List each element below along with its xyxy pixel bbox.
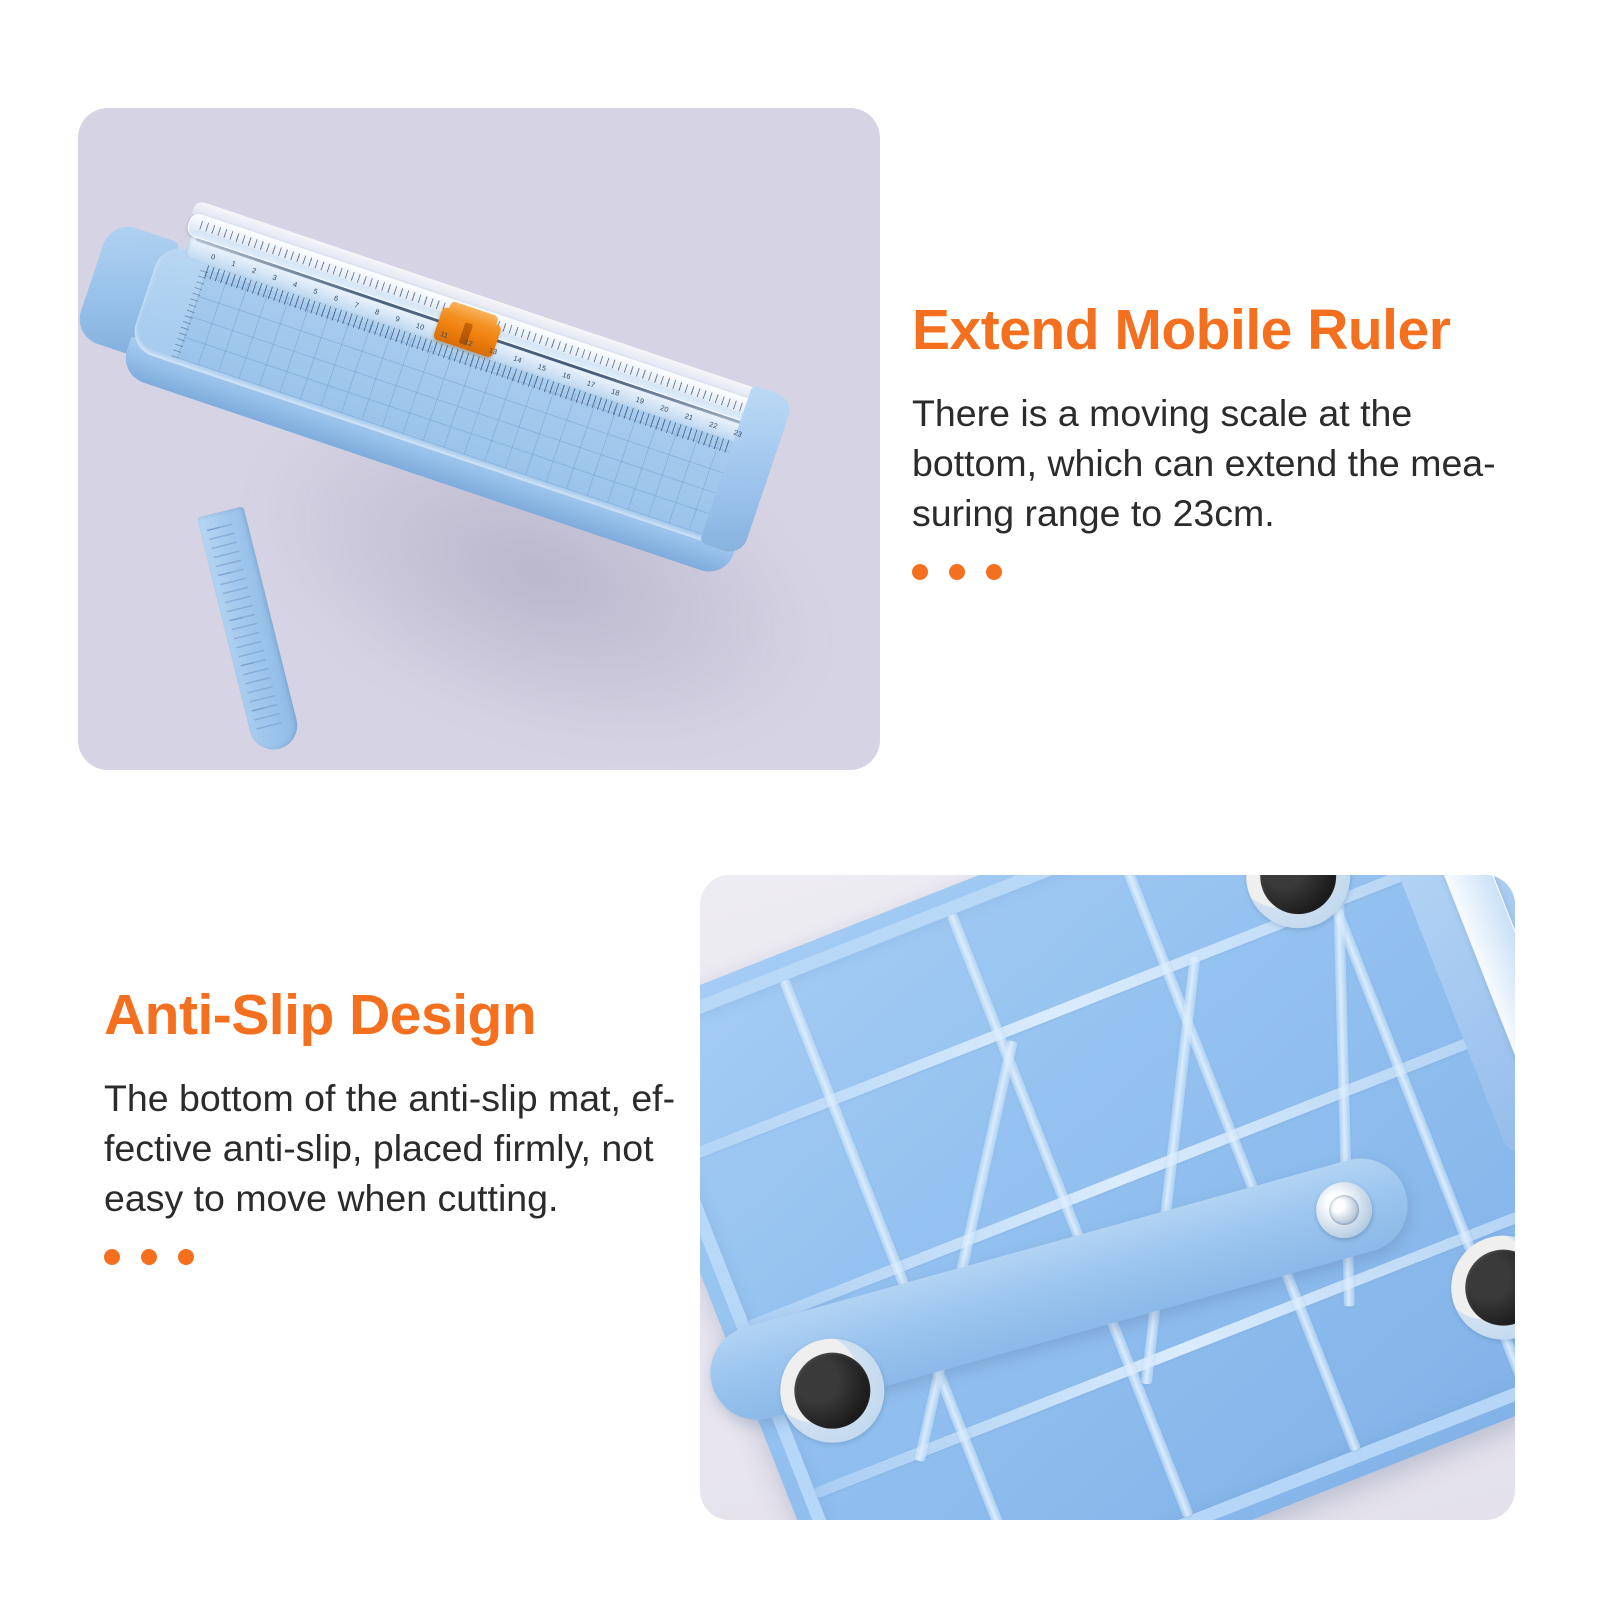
ruler-tick-label: 5 <box>311 286 319 300</box>
ruler-tick-label: 8 <box>373 307 381 321</box>
dot-icon <box>912 564 928 580</box>
ruler-tick-label: 7 <box>352 300 360 314</box>
ruler-tick-label: 19 <box>633 395 645 410</box>
ruler-tick-label: 3 <box>270 273 278 287</box>
ellipsis-ornament <box>104 1249 694 1265</box>
description-line: easy to move when cutting. <box>104 1173 694 1223</box>
description-line: The bottom of the anti-slip mat, ef- <box>104 1073 694 1123</box>
ruler-tick-label: 4 <box>291 279 299 293</box>
ruler-tick-label: 9 <box>393 314 401 328</box>
dot-icon <box>104 1249 120 1265</box>
dot-icon <box>141 1249 157 1265</box>
ellipsis-ornament <box>912 564 1512 580</box>
feature-text-anti-slip-design: Anti-Slip Design The bottom of the anti-… <box>104 985 694 1265</box>
ruler-tick-label: 16 <box>560 370 572 385</box>
ruler-tick-label: 13 <box>486 345 498 360</box>
ruler-tick-label: 22 <box>707 420 719 435</box>
trimmer-underside-slab <box>700 875 1515 1520</box>
ruler-tick-label: 18 <box>609 387 621 402</box>
description-line: bottom, which can extend the mea- <box>912 438 1512 488</box>
ruler-tick-label: 12 <box>462 337 474 352</box>
ruler-tick-label: 21 <box>682 411 694 426</box>
description-line: There is a moving scale at the <box>912 388 1512 438</box>
ruler-tick-label: 11 <box>438 329 450 344</box>
description-line: fective anti-slip, placed firmly, not <box>104 1123 694 1173</box>
product-feature-infographic: 01234567891011121314151617181920212223 E… <box>0 0 1600 1600</box>
feature-description: The bottom of the anti-slip mat, ef- fec… <box>104 1073 694 1224</box>
description-line: suring range to 23cm. <box>912 488 1512 538</box>
ruler-tick-label: 10 <box>414 321 426 336</box>
ruler-tick-label: 6 <box>332 293 340 307</box>
ruler-tick-label: 1 <box>229 259 237 273</box>
feature-heading: Anti-Slip Design <box>104 985 694 1047</box>
ruler-tick-label: 2 <box>250 266 258 280</box>
feature-image-panel-extend-mobile-ruler: 01234567891011121314151617181920212223 <box>78 108 880 770</box>
ruler-tick-label: 20 <box>658 403 670 418</box>
ruler-tick-label: 15 <box>535 362 547 377</box>
ruler-tick-label: 14 <box>511 354 523 369</box>
ruler-tick-label: 17 <box>584 378 596 393</box>
feature-image-panel-anti-slip-design <box>700 875 1515 1520</box>
dot-icon <box>986 564 1002 580</box>
dot-icon <box>949 564 965 580</box>
pivot-screw-icon <box>1310 1176 1379 1245</box>
dot-icon <box>178 1249 194 1265</box>
feature-text-extend-mobile-ruler: Extend Mobile Ruler There is a moving sc… <box>912 300 1512 580</box>
trimmer-underside-photo <box>700 875 1515 1520</box>
feature-heading: Extend Mobile Ruler <box>912 300 1512 362</box>
feature-description: There is a moving scale at the bottom, w… <box>912 388 1512 539</box>
paper-trimmer-photo: 01234567891011121314151617181920212223 <box>78 108 880 770</box>
